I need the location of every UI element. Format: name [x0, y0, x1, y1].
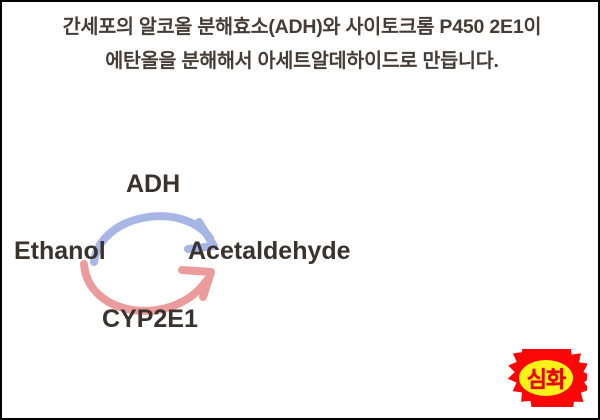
- title-line-2: 에탄올을 분해해서 아세트알데하이드로 만듭니다.: [2, 44, 600, 78]
- badge-label: 심화: [505, 349, 587, 407]
- status-badge: 심화: [505, 349, 587, 407]
- page-title: 간세포의 알코올 분해효소(ADH)와 사이토크롬 P450 2E1이 에탄올을…: [2, 10, 600, 78]
- slide-canvas: 간세포의 알코올 분해효소(ADH)와 사이토크롬 P450 2E1이 에탄올을…: [0, 0, 600, 420]
- substrate-label-ethanol: Ethanol: [14, 237, 106, 266]
- product-label-acetaldehyde: Acetaldehyde: [188, 237, 351, 266]
- enzyme-label-cyp2e1: CYP2E1: [102, 305, 198, 334]
- cyp2e1-arrow-icon: [84, 264, 211, 311]
- enzyme-label-adh: ADH: [126, 170, 180, 199]
- title-line-1: 간세포의 알코올 분해효소(ADH)와 사이토크롬 P450 2E1이: [2, 10, 600, 44]
